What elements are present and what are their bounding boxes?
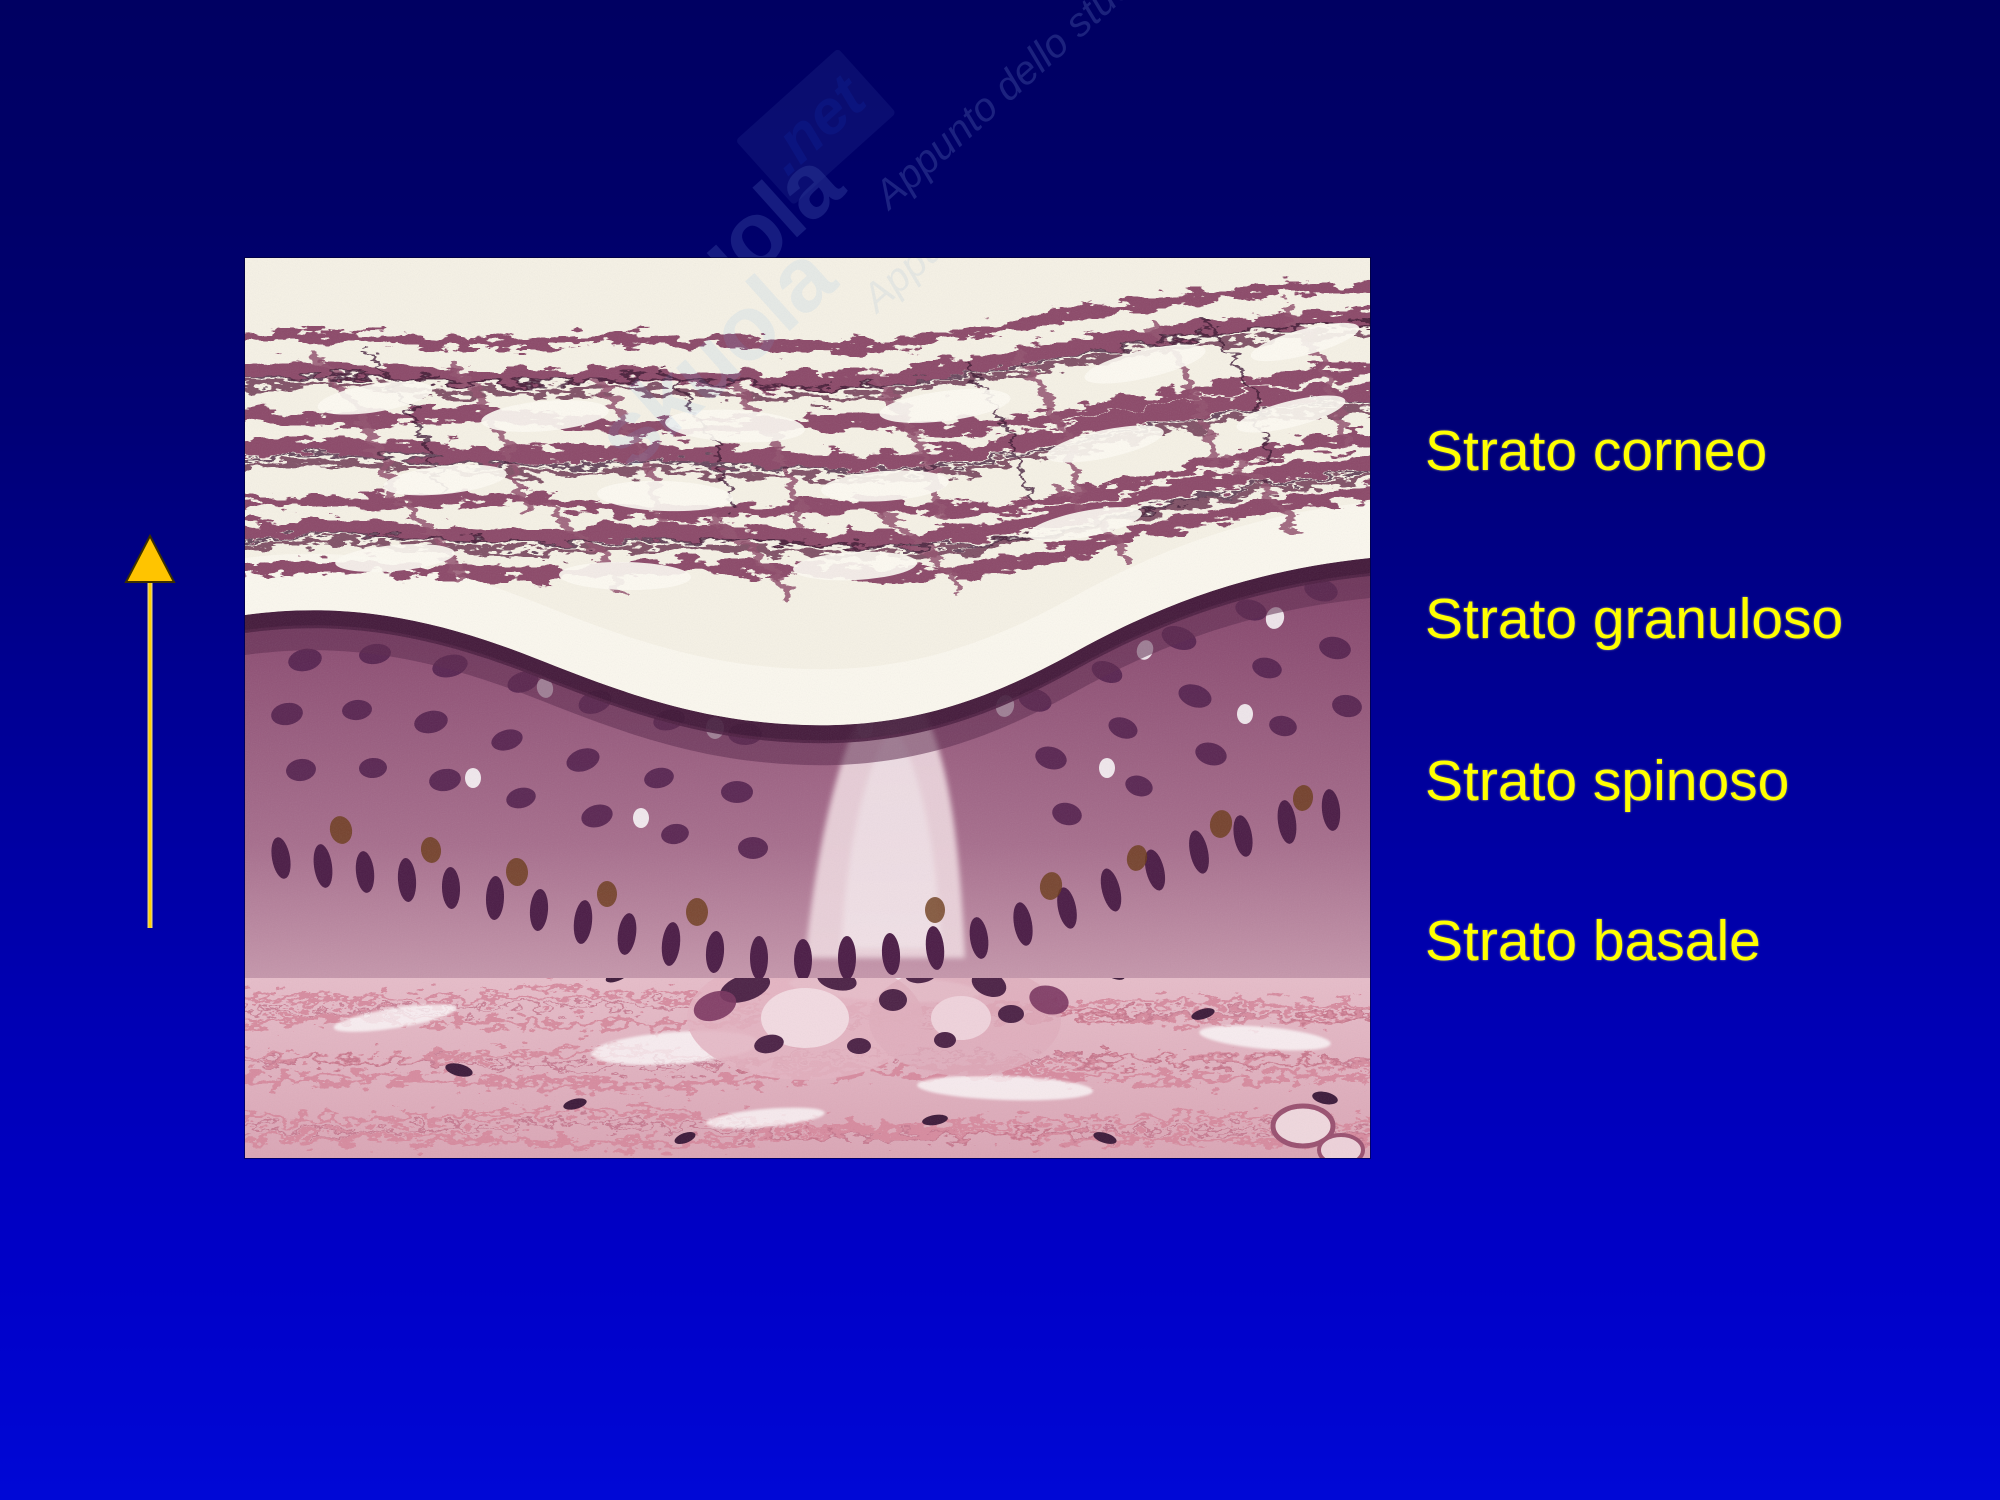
watermark-tagline: Appunto dello studente [866,0,1200,218]
film-grain [245,258,1370,1158]
watermark-domain-text: .net [735,48,896,205]
label-strato-granuloso: Strato granuloso [1425,590,1843,650]
label-strato-basale: Strato basale [1425,912,1761,972]
differentiation-arrow [118,530,182,930]
label-strato-corneo: Strato corneo [1425,422,1767,482]
micrograph-canvas [245,258,1370,1158]
histology-micrograph: skuola Appunto dello studente [245,258,1370,1158]
presentation-slide: skuola .net Appunto dello studente [0,0,2000,1500]
label-strato-spinoso: Strato spinoso [1425,752,1789,812]
micrograph-content [245,258,1370,1158]
arrow-head [126,536,174,582]
